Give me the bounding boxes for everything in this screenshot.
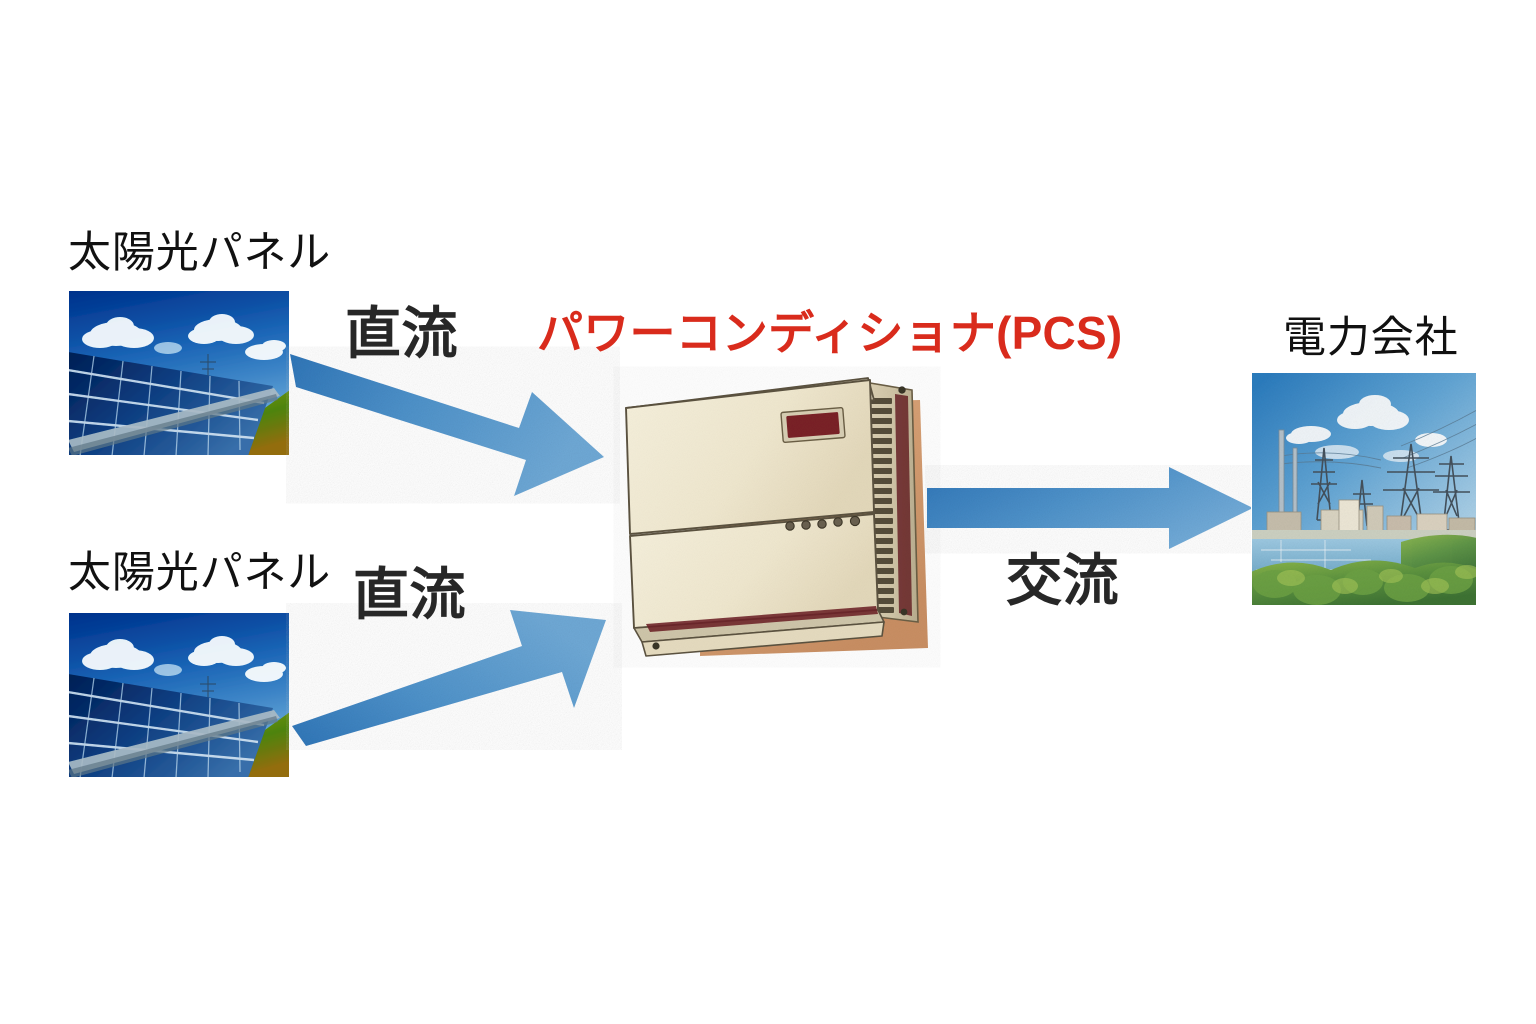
- pcs-upper-panel: [626, 380, 874, 534]
- solar-panel-top-photo: [68, 290, 290, 456]
- diagram-canvas: 太陽光パネル: [0, 0, 1536, 1024]
- pcs-display: [781, 408, 845, 443]
- solar-panel-top-label: 太陽光パネル: [68, 232, 331, 275]
- utility-company-label: 電力会社: [1283, 303, 1458, 365]
- solar-panel-bottom-photo: [68, 612, 290, 778]
- utility-company-photo: [1251, 372, 1477, 606]
- ac-flow-label: 交流: [1006, 536, 1119, 617]
- dc-flow-label-top: 直流: [345, 289, 458, 370]
- dc-flow-label-bottom: 直流: [353, 550, 466, 631]
- pcs-label: パワーコンディショナ(PCS): [537, 297, 1122, 363]
- power-conditioner-illustration: [612, 360, 952, 670]
